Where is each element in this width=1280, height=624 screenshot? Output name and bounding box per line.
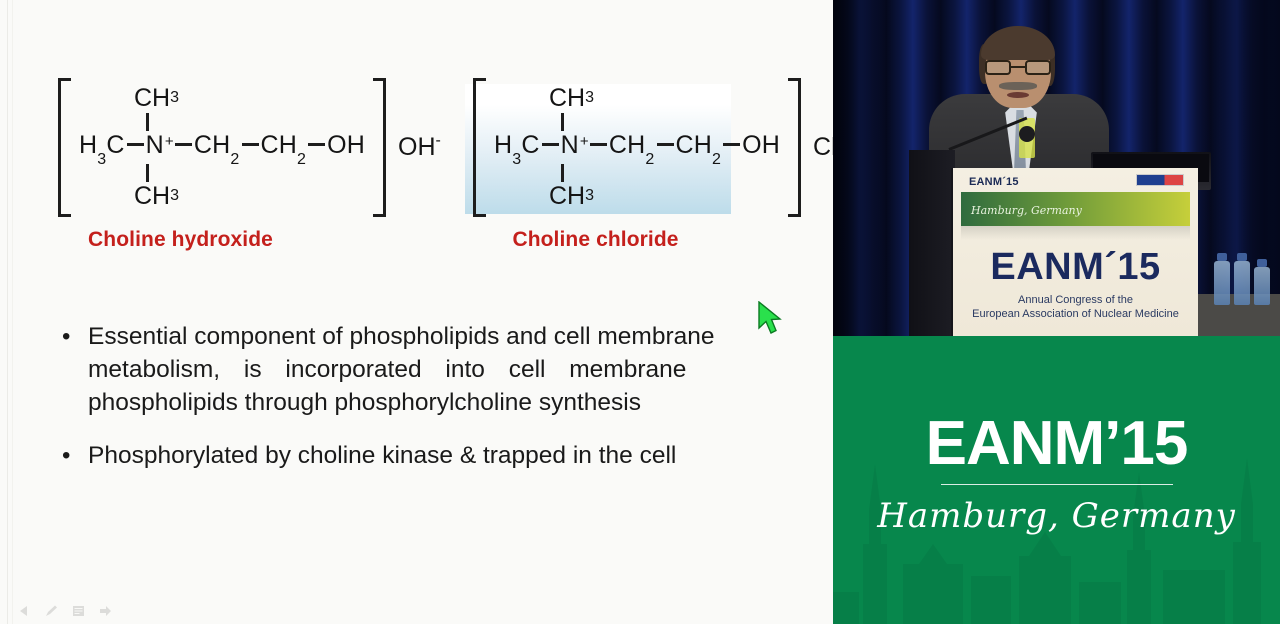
podium-sponsor-logo	[1136, 174, 1184, 186]
podium-small-logo: EANM´15	[969, 176, 1019, 188]
top-methyl-label: CH	[549, 84, 585, 113]
podium-banner-script: Hamburg, Germany	[971, 204, 1082, 217]
podium-banner: Hamburg, Germany	[961, 192, 1190, 226]
hydroxyl-group: OH	[327, 131, 365, 160]
podium-title: EANM´15	[953, 246, 1198, 289]
hydroxide-counterion: OH-	[398, 133, 441, 162]
bond-1	[127, 143, 144, 146]
pen-icon[interactable]	[44, 604, 59, 618]
podium-sign: EANM´15 Hamburg, Germany EANM´15 Annual …	[953, 168, 1198, 336]
chain-ch2-1: CH2	[609, 131, 655, 164]
bottom-methyl-subscript: 3	[170, 187, 179, 216]
bottom-methyl-subscript: 3	[585, 187, 594, 216]
choline-hydroxide-caption: Choline hydroxide	[58, 228, 303, 252]
chain-ch2-1: CH2	[194, 131, 240, 164]
choline-chloride-formula: CH3 H3C N+ CH2 CH2 OH	[473, 78, 833, 217]
nitrogen-atom: N+	[146, 131, 173, 160]
speaker-hair-top	[981, 26, 1055, 60]
water-bottles	[1210, 245, 1274, 305]
bullet-line: Essential component of phospholipids and…	[88, 320, 762, 353]
bond-4	[723, 143, 740, 146]
bottom-bond	[79, 164, 365, 182]
speaker-video[interactable]: EANM´15 Hamburg, Germany EANM´15 Annual …	[833, 0, 1280, 336]
formula-body: CH3 H3C N+ CH2 CH2 OH	[486, 78, 788, 217]
top-methyl-group: CH3	[494, 84, 780, 113]
top-methyl-label: CH	[134, 84, 170, 113]
next-arrow-icon[interactable]	[98, 604, 113, 618]
bullet-marker: •	[62, 439, 88, 472]
top-methyl-group: CH3	[79, 84, 365, 113]
bullet-line-text: Essential component of phospholipids and…	[88, 320, 715, 353]
choline-hydroxide-structure: CH3 H3C N+ CH2 CH2 OH	[58, 78, 441, 217]
choline-chloride-caption: Choline chloride	[473, 228, 718, 252]
eanm-brand-panel: EANM’15 Hamburg, Germany	[833, 336, 1280, 624]
slide-menu-icon[interactable]	[71, 604, 86, 618]
top-methyl-subscript: 3	[170, 89, 179, 118]
bond-2	[590, 143, 607, 146]
bullet-line: phospholipids through phosphorylcholine …	[88, 386, 762, 419]
bottom-methyl-group: CH3	[494, 182, 780, 211]
app-root: CH3 H3C N+ CH2 CH2 OH	[0, 0, 1280, 624]
bullet-line-text: phospholipids through phosphorylcholine …	[88, 386, 641, 419]
chemical-structures-group: CH3 H3C N+ CH2 CH2 OH	[0, 0, 833, 270]
bullet-line-text: metabolism, is incorporated into cell me…	[88, 353, 686, 386]
bottom-methyl-label: CH	[134, 182, 170, 211]
list-item: • Essential component of phospholipids a…	[62, 320, 762, 419]
bond-4	[308, 143, 325, 146]
left-bracket	[58, 78, 71, 217]
podium-subtitle-line1: Annual Congress of the	[953, 294, 1198, 306]
bond-3	[242, 143, 259, 146]
microphone-head	[1019, 126, 1035, 142]
bullet-line-text: Phosphorylated by choline kinase & trapp…	[88, 442, 676, 469]
chain-ch2-2: CH2	[676, 131, 722, 164]
chloride-counterion: Cl-	[813, 133, 833, 162]
bottom-bond	[494, 164, 780, 182]
right-panel: EANM´15 Hamburg, Germany EANM´15 Annual …	[833, 0, 1280, 624]
slideshow-toolbar[interactable]	[17, 604, 113, 618]
choline-chloride-structure: CH3 H3C N+ CH2 CH2 OH	[473, 78, 833, 217]
choline-hydroxide-formula: CH3 H3C N+ CH2 CH2 OH	[58, 78, 441, 217]
brand-divider	[941, 484, 1173, 485]
nitrogen-atom: N+	[561, 131, 588, 160]
bottle	[1234, 261, 1250, 305]
hydroxyl-group: OH	[742, 131, 780, 160]
previous-arrow-icon[interactable]	[17, 604, 32, 618]
top-bond	[79, 113, 365, 131]
podium-banner-reflection	[961, 226, 1190, 240]
bullet-line: metabolism, is incorporated into cell me…	[88, 353, 753, 386]
bottle	[1214, 261, 1230, 305]
left-methyl-label: H3C	[79, 131, 125, 164]
bottom-methyl-label: CH	[549, 182, 585, 211]
bullet-marker: •	[62, 320, 88, 353]
curtain-shadow-left	[833, 0, 893, 336]
bottle	[1254, 267, 1270, 305]
podium-subtitle-line2: European Association of Nuclear Medicine	[953, 308, 1198, 320]
bond-1	[542, 143, 559, 146]
formula-body: CH3 H3C N+ CH2 CH2 OH	[71, 78, 373, 217]
bullet-text: Phosphorylated by choline kinase & trapp…	[88, 439, 762, 472]
top-bond	[494, 113, 780, 131]
presentation-slide-pane: CH3 H3C N+ CH2 CH2 OH	[0, 0, 833, 624]
bullet-text: Essential component of phospholipids and…	[88, 320, 762, 419]
right-bracket	[788, 78, 801, 217]
chain-ch2-2: CH2	[261, 131, 307, 164]
top-methyl-subscript: 3	[585, 89, 594, 118]
brand-title: EANM’15	[833, 408, 1280, 479]
backbone-row: H3C N+ CH2 CH2 OH	[79, 131, 365, 164]
bullet-line: Phosphorylated by choline kinase & trapp…	[88, 439, 762, 472]
backbone-row: H3C N+ CH2 CH2 OH	[494, 131, 780, 164]
left-methyl-label: H3C	[494, 131, 540, 164]
bottom-methyl-group: CH3	[79, 182, 365, 211]
brand-subtitle: Hamburg, Germany	[833, 496, 1280, 536]
left-bracket	[473, 78, 486, 217]
speaker-mouth	[1007, 92, 1029, 98]
podium-side-panel	[909, 150, 955, 336]
speaker-glasses	[985, 60, 1051, 75]
right-bracket	[373, 78, 386, 217]
slide-bullet-list: • Essential component of phospholipids a…	[62, 320, 762, 486]
list-item: • Phosphorylated by choline kinase & tra…	[62, 439, 762, 472]
speaker-moustache	[999, 82, 1037, 90]
bond-2	[175, 143, 192, 146]
bond-3	[657, 143, 674, 146]
